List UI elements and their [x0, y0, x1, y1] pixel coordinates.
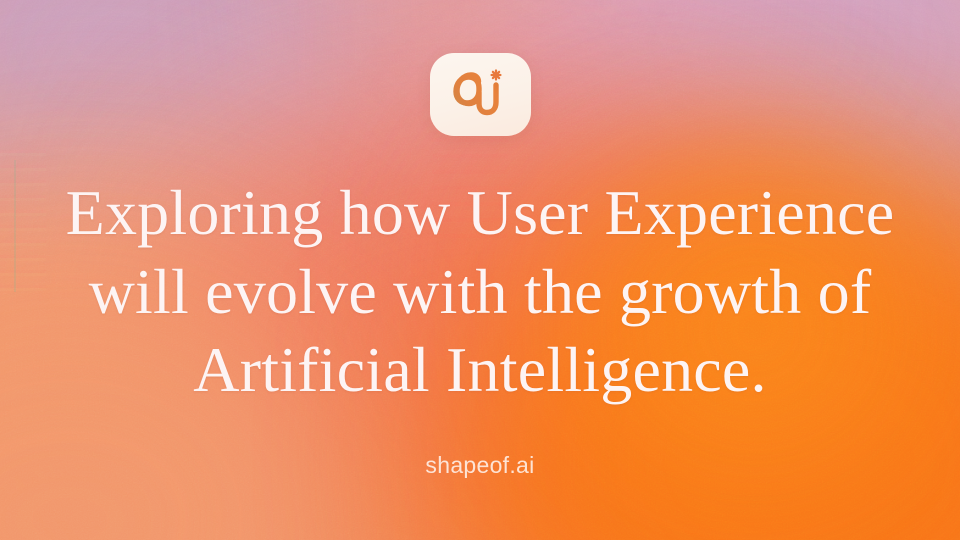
ai-wordmark-icon — [444, 67, 516, 123]
headline-line-1: Exploring how User Experience — [40, 174, 920, 253]
shapeof-ai-app-icon — [430, 53, 531, 136]
headline-line-2: will evolve with the growth of — [40, 253, 920, 332]
site-wordmark: shapeof.ai — [0, 452, 960, 479]
headline-line-3: Artificial Intelligence. — [40, 331, 920, 410]
card-canvas: Exploring how User Experience will evolv… — [0, 0, 960, 540]
asterisk-center-dot — [494, 73, 498, 77]
headline: Exploring how User Experience will evolv… — [40, 174, 920, 410]
